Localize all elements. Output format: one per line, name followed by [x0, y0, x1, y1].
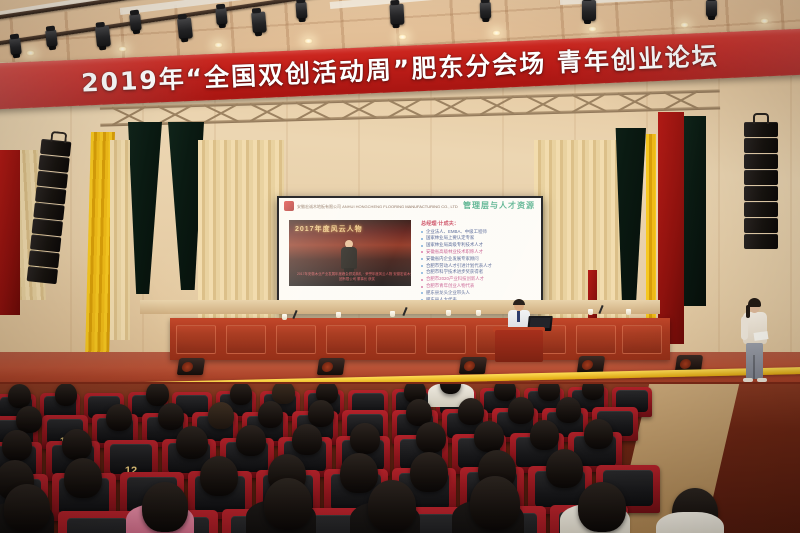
audience-head: [64, 458, 102, 498]
truss-brace: [156, 105, 190, 124]
downlight: [492, 30, 501, 36]
downlight: [304, 38, 313, 44]
stage-spotlight-icon: [295, 2, 307, 20]
stage-spotlight-icon: [129, 13, 142, 31]
list-item: 国家林业局高级专利技术人才: [421, 242, 535, 249]
audience-head: [158, 403, 184, 430]
downlight: [398, 34, 407, 40]
table-cup: [588, 309, 593, 315]
audience-seating: 12 12 12: [0, 384, 800, 533]
table-cup: [390, 311, 395, 317]
audience-head: [538, 384, 560, 401]
audience-head: [8, 384, 31, 408]
audience-shoulders: [656, 512, 724, 533]
truss-brace: [248, 103, 282, 122]
audience-head: [230, 384, 252, 405]
slide-video-thumbnail: 2017年度风云人物 2017年安徽木业产业发展年度峰会颁奖典礼 · 荣誉年度风…: [289, 220, 411, 286]
stage-back-panel: [140, 300, 660, 314]
stage-spotlight-icon: [389, 4, 404, 26]
slide-section-title: 管理层与人才资源: [463, 200, 535, 211]
stage-monitor-speaker: [459, 357, 487, 374]
stage-curtain-cream-left: [110, 140, 130, 340]
presentation-slide: 安徽宏诚木地板有限公司 ANHUI HONGCHENG FLOORING MAN…: [279, 198, 541, 311]
audience-head: [272, 384, 295, 404]
list-item: 合肥市青年创业人物代表: [421, 283, 535, 290]
stage-curtain-red-right: [658, 112, 684, 344]
company-logo-icon: [284, 201, 294, 211]
speaker-hanger-icon: [50, 131, 67, 144]
audience-head: [582, 384, 604, 400]
truss-brace: [662, 91, 696, 110]
audience-head: [416, 422, 446, 453]
audience-head: [368, 480, 416, 532]
table-cup: [626, 309, 631, 315]
truss-brace: [294, 101, 328, 120]
video-overlay-title: 2017年度风云人物: [295, 224, 363, 234]
stage-spotlight-icon: [582, 0, 596, 21]
audience-head: [62, 429, 92, 460]
audience-head: [584, 419, 613, 449]
slide-bullet-list: 总经理·计成夫： 企业法人、EMBA、中级工程师 国家林业局上要认定专家 国家林…: [421, 220, 535, 304]
speaker-podium: [495, 330, 543, 362]
stage-spotlight-icon: [177, 17, 193, 39]
audience-head: [200, 456, 238, 496]
stage-spotlight-icon: [95, 25, 111, 47]
truss-brace: [616, 92, 650, 111]
audience-head: [530, 420, 559, 450]
projection-screen: 安徽宏诚木地板有限公司 ANHUI HONGCHENG FLOORING MAN…: [277, 196, 543, 313]
audience-head: [55, 384, 77, 406]
truss-brace: [202, 104, 236, 123]
downlight: [680, 22, 689, 28]
table-cup: [446, 310, 451, 316]
audience-head: [410, 452, 448, 492]
audience-head: [474, 421, 504, 452]
downlight: [214, 42, 223, 48]
audience-head: [470, 476, 520, 530]
head-table: [170, 318, 670, 360]
stage-spotlight-icon: [215, 8, 227, 26]
audience-head: [292, 424, 322, 455]
stage-curtain-dark-right: [684, 116, 706, 306]
audience-head: [458, 398, 484, 425]
audience-head: [142, 482, 188, 532]
audience-head: [556, 397, 581, 423]
stage-curtain-red-left: [0, 150, 20, 315]
stage-spotlight-icon: [9, 37, 22, 55]
audience-head: [264, 478, 312, 530]
slide-company-name: 安徽宏诚木地板有限公司 ANHUI HONGCHENG FLOORING MAN…: [297, 204, 458, 209]
audience-head: [546, 449, 583, 488]
list-item: 肥东县龙头企业带头人: [421, 290, 535, 297]
walking-attendee: [742, 300, 768, 384]
truss-brace: [432, 97, 466, 116]
slide-company-logo: 安徽宏诚木地板有限公司 ANHUI HONGCHENG FLOORING MAN…: [284, 201, 458, 211]
table-cup: [282, 314, 287, 320]
stage-monitor-speaker: [317, 358, 345, 375]
audience-head: [146, 384, 169, 406]
stage-spotlight-icon: [45, 29, 58, 47]
audience-head: [508, 397, 534, 424]
stage-monitor-speaker: [177, 358, 205, 375]
audience-head: [16, 406, 42, 433]
stage-spotlight-icon: [706, 0, 717, 17]
speaker-hanger-icon: [753, 113, 769, 124]
downlight: [760, 18, 769, 24]
stage-monitor-speaker: [577, 356, 605, 373]
audience-head: [578, 482, 626, 532]
audience-head: [308, 400, 334, 427]
audience-head: [176, 426, 208, 459]
audience-head: [4, 484, 50, 532]
stage-spotlight-icon: [251, 11, 267, 33]
audience-head: [106, 404, 132, 431]
truss-brace: [524, 95, 558, 114]
audience-head: [208, 402, 234, 429]
theater-seat: [58, 511, 136, 533]
audience-head: [2, 430, 32, 461]
table-cup: [476, 310, 481, 316]
truss-brace: [570, 94, 604, 113]
downlight: [588, 26, 597, 32]
downlight: [26, 50, 35, 56]
truss-brace: [478, 96, 512, 115]
bullet-list-heading: 总经理·计成夫：: [421, 220, 535, 227]
downlight: [118, 46, 127, 52]
list-item: 安徽省高级林业技术职称人才: [421, 249, 535, 256]
list-item: 安徽省内企业发展专家顾问: [421, 256, 535, 263]
audience-head: [350, 423, 380, 454]
audience-head: [236, 425, 266, 456]
video-caption: 2017年安徽木业产业发展年度峰会颁奖典礼 · 荣誉年度风云人物 安徽宏诚木业集…: [297, 272, 411, 282]
table-cup: [336, 312, 341, 318]
truss-brace: [386, 99, 420, 118]
line-array-speaker-right: [744, 122, 778, 249]
stage-spotlight-icon: [480, 2, 492, 19]
auditorium-photo: 2019年“全国双创活动周”肥东分会场 青年创业论坛: [0, 0, 800, 533]
audience-head: [258, 401, 283, 428]
truss-brace: [340, 100, 374, 119]
audience-head: [340, 453, 378, 493]
